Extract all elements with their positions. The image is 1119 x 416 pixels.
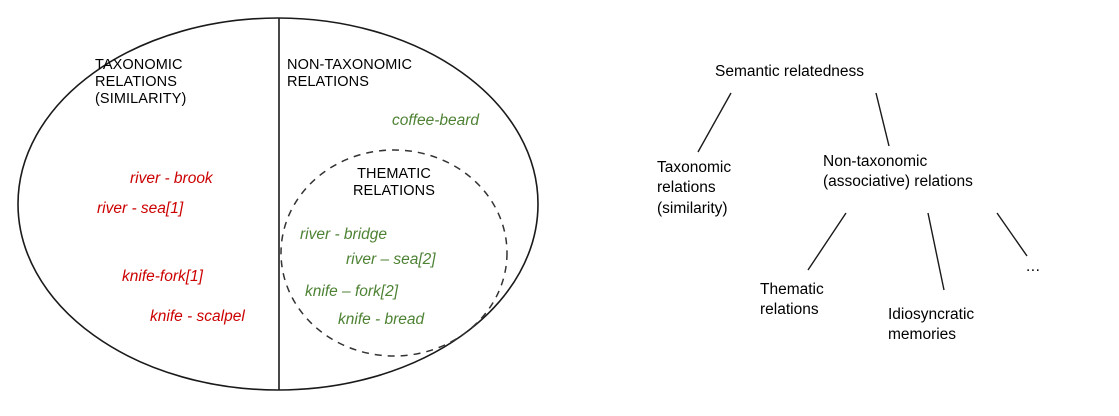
taxonomic-example-knife-scalpel: knife - scalpel <box>150 308 245 326</box>
tree-node-idiosyncratic-memories: Idiosyncratic memories <box>888 305 974 346</box>
thematic-example-knife-bread: knife - bread <box>338 311 424 329</box>
thematic-example-knife-fork: knife – fork[2] <box>305 283 398 301</box>
semantic-relations-figure: TAXONOMIC RELATIONS (SIMILARITY) NON-TAX… <box>0 0 1119 416</box>
tree-root-label: Semantic relatedness <box>715 62 864 82</box>
taxonomic-example-river-sea: river - sea[1] <box>97 200 183 218</box>
tree-node-thematic-relations: Thematic relations <box>760 280 824 321</box>
thematic-caption: THEMATIC RELATIONS <box>329 166 459 200</box>
thematic-example-river-bridge: river - bridge <box>300 226 387 244</box>
taxonomic-caption: TAXONOMIC RELATIONS (SIMILARITY) <box>95 57 186 108</box>
taxonomic-example-river-brook: river - brook <box>130 170 213 188</box>
edge-nontaxonomic-ellipsis <box>997 213 1027 256</box>
edge-nontaxonomic-idiosyncratic <box>928 213 944 290</box>
edge-root-nontaxonomic <box>876 93 889 146</box>
tree-node-nontaxonomic-relations: Non-taxonomic (associative) relations <box>823 152 973 193</box>
tree-node-taxonomic-relations: Taxonomic relations (similarity) <box>657 158 731 219</box>
nontaxonomic-example-coffee-beard: coffee-beard <box>392 112 479 130</box>
nontaxonomic-caption: NON-TAXONOMIC RELATIONS <box>287 57 412 91</box>
tree-node-ellipsis: ... <box>1026 258 1040 276</box>
taxonomic-example-knife-fork: knife-fork[1] <box>122 268 203 286</box>
edge-root-taxonomic <box>698 93 731 152</box>
thematic-example-river-sea: river – sea[2] <box>346 251 436 269</box>
edge-nontaxonomic-thematic <box>808 213 846 270</box>
